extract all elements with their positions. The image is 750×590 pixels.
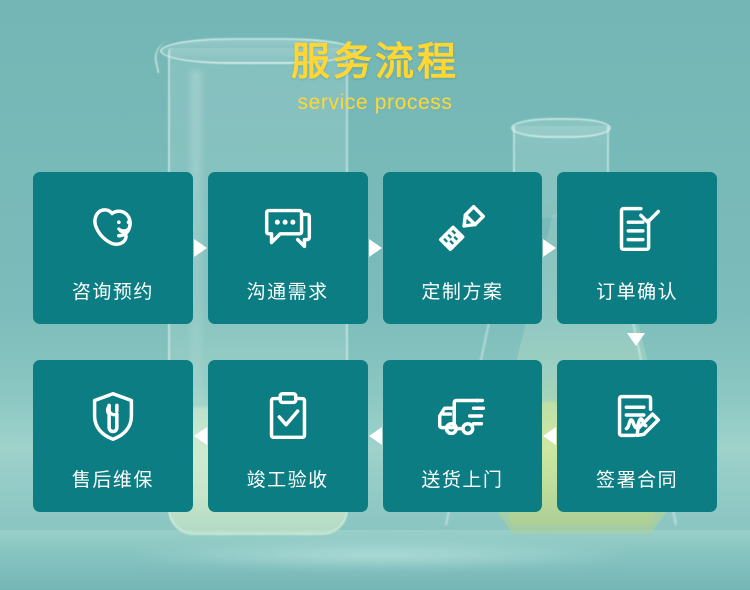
- arrow-right-icon: [369, 239, 382, 257]
- process-steps-grid: 咨询预约 沟通需求: [33, 172, 717, 512]
- step-card-order-confirm[interactable]: 订单确认: [557, 172, 717, 324]
- arrow-right-icon: [194, 239, 207, 257]
- chat-bubbles-icon: [254, 197, 322, 259]
- arrow-right-icon: [543, 239, 556, 257]
- step-label: 售后维保: [33, 465, 193, 492]
- document-check-icon: [603, 197, 671, 259]
- arrow-slot-6: [542, 360, 557, 512]
- step-card-delivery[interactable]: 送货上门: [383, 360, 543, 512]
- process-row-bottom: 售后维保 竣工验收: [33, 360, 717, 512]
- step-card-contract[interactable]: 签署合同: [557, 360, 717, 512]
- delivery-truck-icon: [428, 385, 496, 447]
- step-card-acceptance[interactable]: 竣工验收: [208, 360, 368, 512]
- service-process-banner: 服务流程 service process 咨询预约: [0, 0, 750, 590]
- arrow-left-icon: [369, 427, 382, 445]
- arrow-left-icon: [543, 427, 556, 445]
- arrow-slot-3: [542, 172, 557, 324]
- step-label: 咨询预约: [33, 277, 193, 304]
- step-label: 送货上门: [383, 465, 543, 492]
- arrow-slot-5: [368, 360, 383, 512]
- clipboard-check-icon: [254, 385, 322, 447]
- arrow-slot-1: [193, 172, 208, 324]
- step-card-custom-plan[interactable]: 定制方案: [383, 172, 543, 324]
- step-label: 签署合同: [557, 465, 717, 492]
- arrow-left-icon: [194, 427, 207, 445]
- step-label: 沟通需求: [208, 277, 368, 304]
- step-card-maintenance[interactable]: 售后维保: [33, 360, 193, 512]
- step-label: 订单确认: [557, 277, 717, 304]
- contract-sign-icon: [603, 385, 671, 447]
- step-label: 定制方案: [383, 277, 543, 304]
- shield-wrench-icon: [79, 385, 147, 447]
- step-card-communication[interactable]: 沟通需求: [208, 172, 368, 324]
- background-table-reflection: [120, 540, 640, 570]
- arrow-slot-2: [368, 172, 383, 324]
- step-label: 竣工验收: [208, 465, 368, 492]
- step-card-consultation[interactable]: 咨询预约: [33, 172, 193, 324]
- phone-smile-icon: [79, 197, 147, 259]
- pencil-ruler-icon: [428, 197, 496, 259]
- process-row-top: 咨询预约 沟通需求: [33, 172, 717, 324]
- arrow-slot-4: [193, 360, 208, 512]
